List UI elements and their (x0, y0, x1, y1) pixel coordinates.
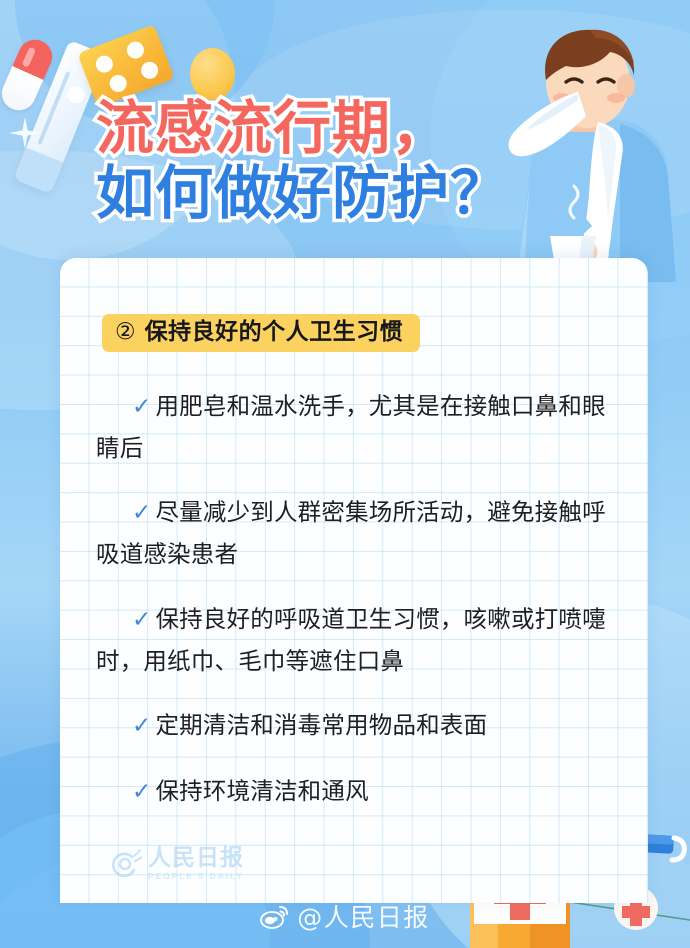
content-card: ② 保持良好的个人卫生习惯 ✓用肥皂和温水洗手，尤其是在接触口鼻和眼睛后 ✓尽量… (60, 258, 648, 903)
logo-chinese-name: 人民日报 (148, 847, 244, 870)
section-number: ② (115, 321, 136, 344)
headline-line-1: 流感流行期， (96, 96, 516, 161)
weibo-icon (260, 904, 289, 929)
check-icon: ✓ (132, 394, 155, 420)
footer-watermark: @人民日报 (0, 898, 690, 934)
list-item-text: 保持良好的呼吸道卫生习惯，咳嗽或打喷嚏时，用纸巾、毛巾等遮住口鼻 (96, 605, 606, 675)
check-icon: ✓ (132, 500, 155, 526)
list-item: ✓尽量减少到人群密集场所活动，避免接触呼吸道感染患者 (96, 492, 624, 575)
list-item-text: 定期清洁和消毒常用物品和表面 (155, 711, 487, 739)
peoples-daily-watermark-logo: 人民日报 PEOPLE'S DAILY (108, 847, 244, 881)
list-item: ✓保持环境清洁和通风 (96, 771, 624, 813)
list-item-text: 尽量减少到人群密集场所活动，避免接触呼吸道感染患者 (96, 498, 606, 568)
list-item-text: 用肥皂和温水洗手，尤其是在接触口鼻和眼睛后 (96, 392, 606, 462)
footer-handle: @人民日报 (297, 898, 430, 934)
section-heading-badge: ② 保持良好的个人卫生习惯 (102, 314, 420, 352)
orange-pill-ball-icon (190, 48, 235, 100)
headline-line-2: 如何做好防护？ (96, 161, 516, 226)
list-item: ✓定期清洁和消毒常用物品和表面 (96, 705, 624, 747)
list-item: ✓保持良好的呼吸道卫生习惯，咳嗽或打喷嚏时，用纸巾、毛巾等遮住口鼻 (96, 599, 624, 682)
section-title: 保持良好的个人卫生习惯 (145, 320, 404, 344)
list-item-text: 保持环境清洁和通风 (155, 777, 368, 805)
check-icon: ✓ (132, 713, 155, 739)
headline: 流感流行期， 如何做好防护？ (96, 96, 516, 226)
logo-english-name: PEOPLE'S DAILY (148, 872, 244, 881)
thermometer-icon (13, 40, 106, 194)
bullet-list: ✓用肥皂和温水洗手，尤其是在接触口鼻和眼睛后 ✓尽量减少到人群密集场所活动，避免… (96, 362, 624, 819)
at-sign-icon (108, 847, 142, 881)
check-icon: ✓ (132, 607, 155, 633)
capsule-pill-icon (0, 34, 58, 115)
poster-root: 流感流行期， 如何做好防护？ (0, 0, 690, 948)
sparkle-icon-left (8, 116, 42, 150)
list-item: ✓用肥皂和温水洗手，尤其是在接触口鼻和眼睛后 (96, 386, 624, 469)
check-icon: ✓ (132, 779, 155, 805)
